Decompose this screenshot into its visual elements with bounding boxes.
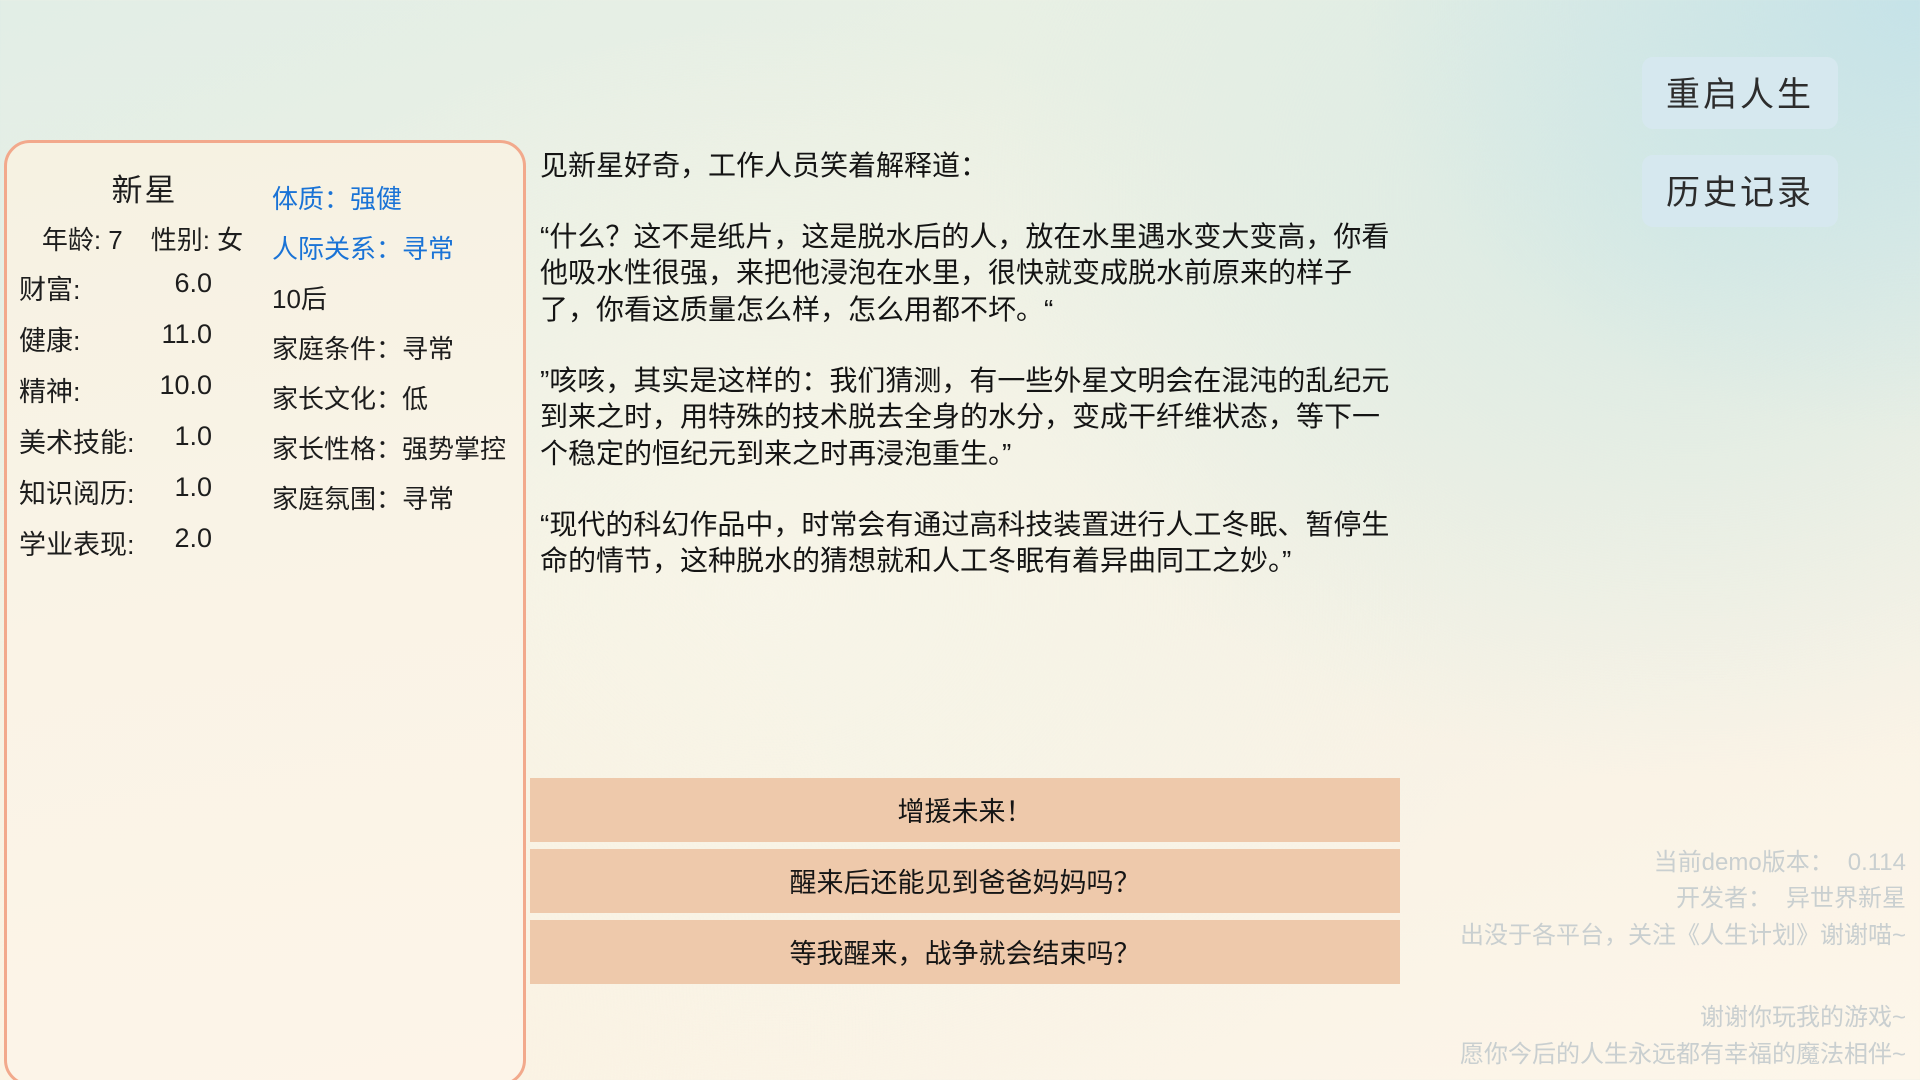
stat-label-spirit: 精神: [19,370,81,409]
attribute-relationships: 人际关系：寻常 [272,229,522,266]
stats-column-attributes: 体质：强健 人际关系：寻常 10后 家庭条件：寻常 家长文化：低 家长性格：强势… [272,157,522,574]
attribute-constitution: 体质：强健 [272,179,522,216]
character-stats-panel: 新星 年龄: 7 性别: 女 财富: 6.0 健康: 11.0 精神: 10.0… [4,140,526,1080]
age-gender-row: 年龄: 7 性别: 女 [13,220,272,257]
stat-value-spirit: 10.0 [159,370,272,409]
version-label: 当前demo版本： [1654,849,1834,876]
developer-value: 异世界新星 [1786,885,1906,912]
stat-row: 知识阅历: 1.0 [13,472,272,511]
attribute-family-atmosphere: 家庭氛围：寻常 [272,479,522,516]
character-name: 新星 [17,165,272,210]
stat-row: 健康: 11.0 [13,319,272,358]
developer-row: 开发者：异世界新星 [1460,881,1906,917]
version-value: 0.114 [1848,849,1906,876]
stat-label-wealth: 财富: [19,268,81,307]
stat-value-art-skill: 1.0 [174,421,272,460]
attribute-column-spacer [272,157,522,179]
choice-button-2[interactable]: 醒来后还能见到爸爸妈妈吗？ [530,849,1400,913]
wish-note: 愿你今后的人生永远都有幸福的魔法相伴~ [1460,1037,1906,1073]
attribute-parent-education: 家长文化：低 [272,379,522,416]
stat-row: 美术技能: 1.0 [13,421,272,460]
stat-label-art-skill: 美术技能: [19,421,135,460]
stat-value-academics: 2.0 [174,523,272,562]
stat-row: 学业表现: 2.0 [13,523,272,562]
story-text-panel: 见新星好奇，工作人员笑着解释道： “什么？这不是纸片，这是脱水后的人，放在水里遇… [540,148,1395,580]
story-paragraph: ”咳咳，其实是这样的：我们猜测，有一些外星文明会在混沌的乱纪元到来之时，用特殊的… [540,363,1395,473]
history-record-button[interactable]: 历史记录 [1642,155,1838,227]
choice-list: 增援未来！ 醒来后还能见到爸爸妈妈吗？ 等我醒来，战争就会结束吗？ [530,778,1400,991]
attribute-parent-personality: 家长性格：强势掌控 [272,429,522,466]
credits-spacer [1460,954,1906,1000]
story-paragraph: “现代的科幻作品中，时常会有通过高科技装置进行人工冬眠、暂停生命的情节，这种脱水… [540,507,1395,580]
attribute-generation: 10后 [272,279,522,316]
platform-note: 出没于各平台，关注《人生计划》谢谢喵~ [1460,918,1906,954]
stats-column-numeric: 新星 年龄: 7 性别: 女 财富: 6.0 健康: 11.0 精神: 10.0… [7,157,272,574]
character-gender: 性别: 女 [151,220,243,257]
stat-label-health: 健康: [19,319,81,358]
stat-row: 精神: 10.0 [13,370,272,409]
developer-label: 开发者： [1676,885,1772,912]
choice-button-3[interactable]: 等我醒来，战争就会结束吗？ [530,920,1400,984]
stat-label-knowledge: 知识阅历: [19,472,135,511]
story-paragraph: “什么？这不是纸片，这是脱水后的人，放在水里遇水变大变高，你看他吸水性很强，来把… [540,219,1395,329]
stat-value-health: 11.0 [161,319,272,358]
thanks-note: 谢谢你玩我的游戏~ [1460,1000,1906,1036]
version-row: 当前demo版本：0.114 [1460,845,1906,881]
story-paragraph: 见新星好奇，工作人员笑着解释道： [540,148,1395,185]
stat-row: 财富: 6.0 [13,268,272,307]
stat-label-academics: 学业表现: [19,523,135,562]
credits-block: 当前demo版本：0.114 开发者：异世界新星 出没于各平台，关注《人生计划》… [1460,845,1906,1073]
character-age: 年龄: 7 [42,220,123,257]
attribute-family-condition: 家庭条件：寻常 [272,329,522,366]
choice-button-1[interactable]: 增援未来！ [530,778,1400,842]
stat-value-knowledge: 1.0 [174,472,272,511]
stat-value-wealth: 6.0 [174,268,272,307]
restart-life-button[interactable]: 重启人生 [1642,57,1838,129]
